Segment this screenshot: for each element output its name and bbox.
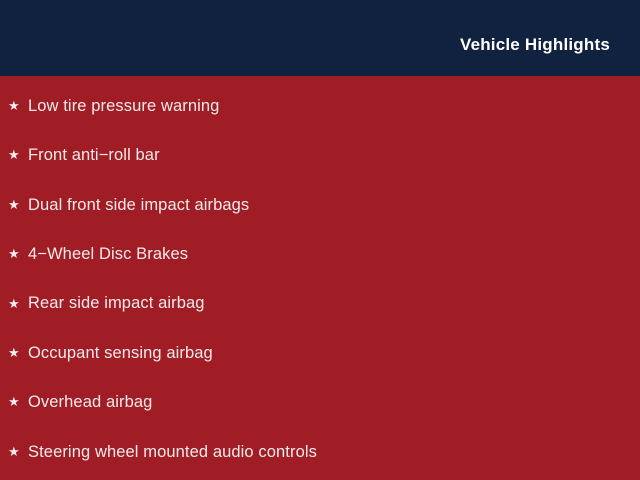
list-item: ★Rear side impact airbag — [8, 293, 205, 315]
list-item-label: Occupant sensing airbag — [28, 345, 213, 362]
list-item: ★Overhead airbag — [8, 391, 152, 413]
vehicle-highlights-screen: Vehicle Highlights ★Low tire pressure wa… — [0, 0, 640, 480]
star-bullet-icon: ★ — [8, 346, 28, 359]
list-item: ★Dual front side impact airbags — [8, 194, 249, 216]
star-bullet-icon: ★ — [8, 395, 28, 408]
list-item-label: Overhead airbag — [28, 394, 152, 411]
star-bullet-icon: ★ — [8, 99, 28, 112]
highlights-panel: ★Low tire pressure warning★Front anti−ro… — [0, 76, 640, 480]
star-bullet-icon: ★ — [8, 148, 28, 161]
list-item: ★Low tire pressure warning — [8, 95, 219, 117]
list-item: ★Occupant sensing airbag — [8, 342, 213, 364]
list-item-label: Steering wheel mounted audio controls — [28, 444, 317, 461]
list-item-label: Dual front side impact airbags — [28, 197, 249, 214]
star-bullet-icon: ★ — [8, 247, 28, 260]
list-item-label: Low tire pressure warning — [28, 98, 219, 115]
list-item-label: Front anti−roll bar — [28, 147, 160, 164]
header-band: Vehicle Highlights — [0, 0, 640, 76]
list-item: ★Steering wheel mounted audio controls — [8, 441, 317, 463]
list-item-label: 4−Wheel Disc Brakes — [28, 246, 188, 263]
list-item: ★4−Wheel Disc Brakes — [8, 243, 188, 265]
star-bullet-icon: ★ — [8, 445, 28, 458]
star-bullet-icon: ★ — [8, 198, 28, 211]
list-item-label: Rear side impact airbag — [28, 295, 205, 312]
star-bullet-icon: ★ — [8, 297, 28, 310]
list-item: ★Front anti−roll bar — [8, 144, 160, 166]
page-title: Vehicle Highlights — [460, 36, 640, 53]
